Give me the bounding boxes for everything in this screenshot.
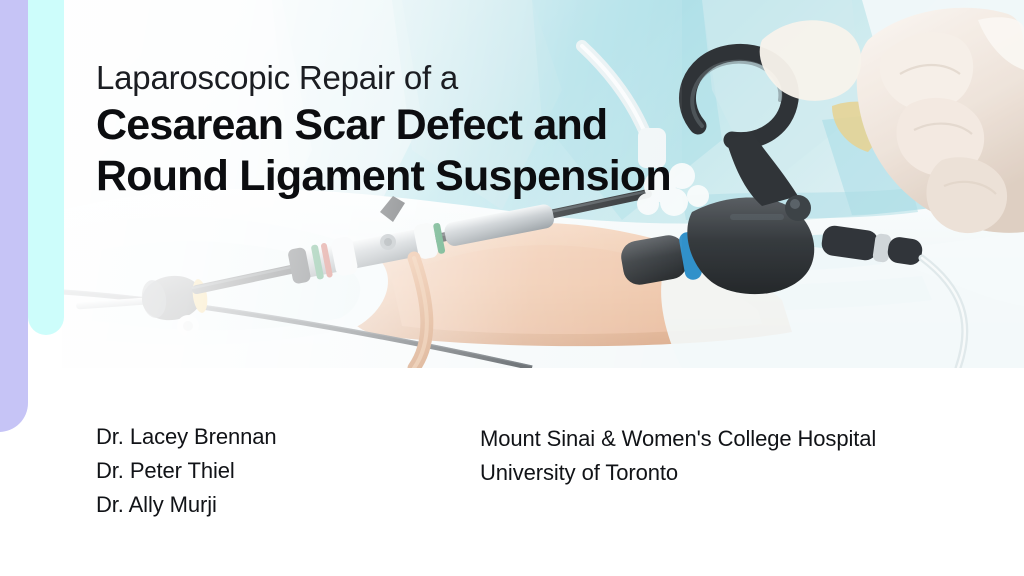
title-line-3: Round Ligament Suspension: [96, 151, 796, 202]
purple-rounded-bar: [0, 0, 28, 432]
author-list: Dr. Lacey Brennan Dr. Peter Thiel Dr. Al…: [96, 420, 480, 522]
page-title: Laparoscopic Repair of a Cesarean Scar D…: [96, 56, 796, 201]
affiliation-list: Mount Sinai & Women's College Hospital U…: [480, 420, 984, 490]
author-name: Dr. Peter Thiel: [96, 454, 480, 488]
author-name: Dr. Lacey Brennan: [96, 420, 480, 454]
affiliation-hospital: Mount Sinai & Women's College Hospital: [480, 422, 984, 456]
title-slide: Laparoscopic Repair of a Cesarean Scar D…: [0, 0, 1024, 576]
credits: Dr. Lacey Brennan Dr. Peter Thiel Dr. Al…: [96, 420, 984, 522]
author-name: Dr. Ally Murji: [96, 488, 480, 522]
title-line-1: Laparoscopic Repair of a: [96, 56, 796, 100]
affiliation-university: University of Toronto: [480, 456, 984, 490]
cyan-rounded-bar: [28, 0, 64, 335]
title-line-2: Cesarean Scar Defect and: [96, 100, 796, 151]
